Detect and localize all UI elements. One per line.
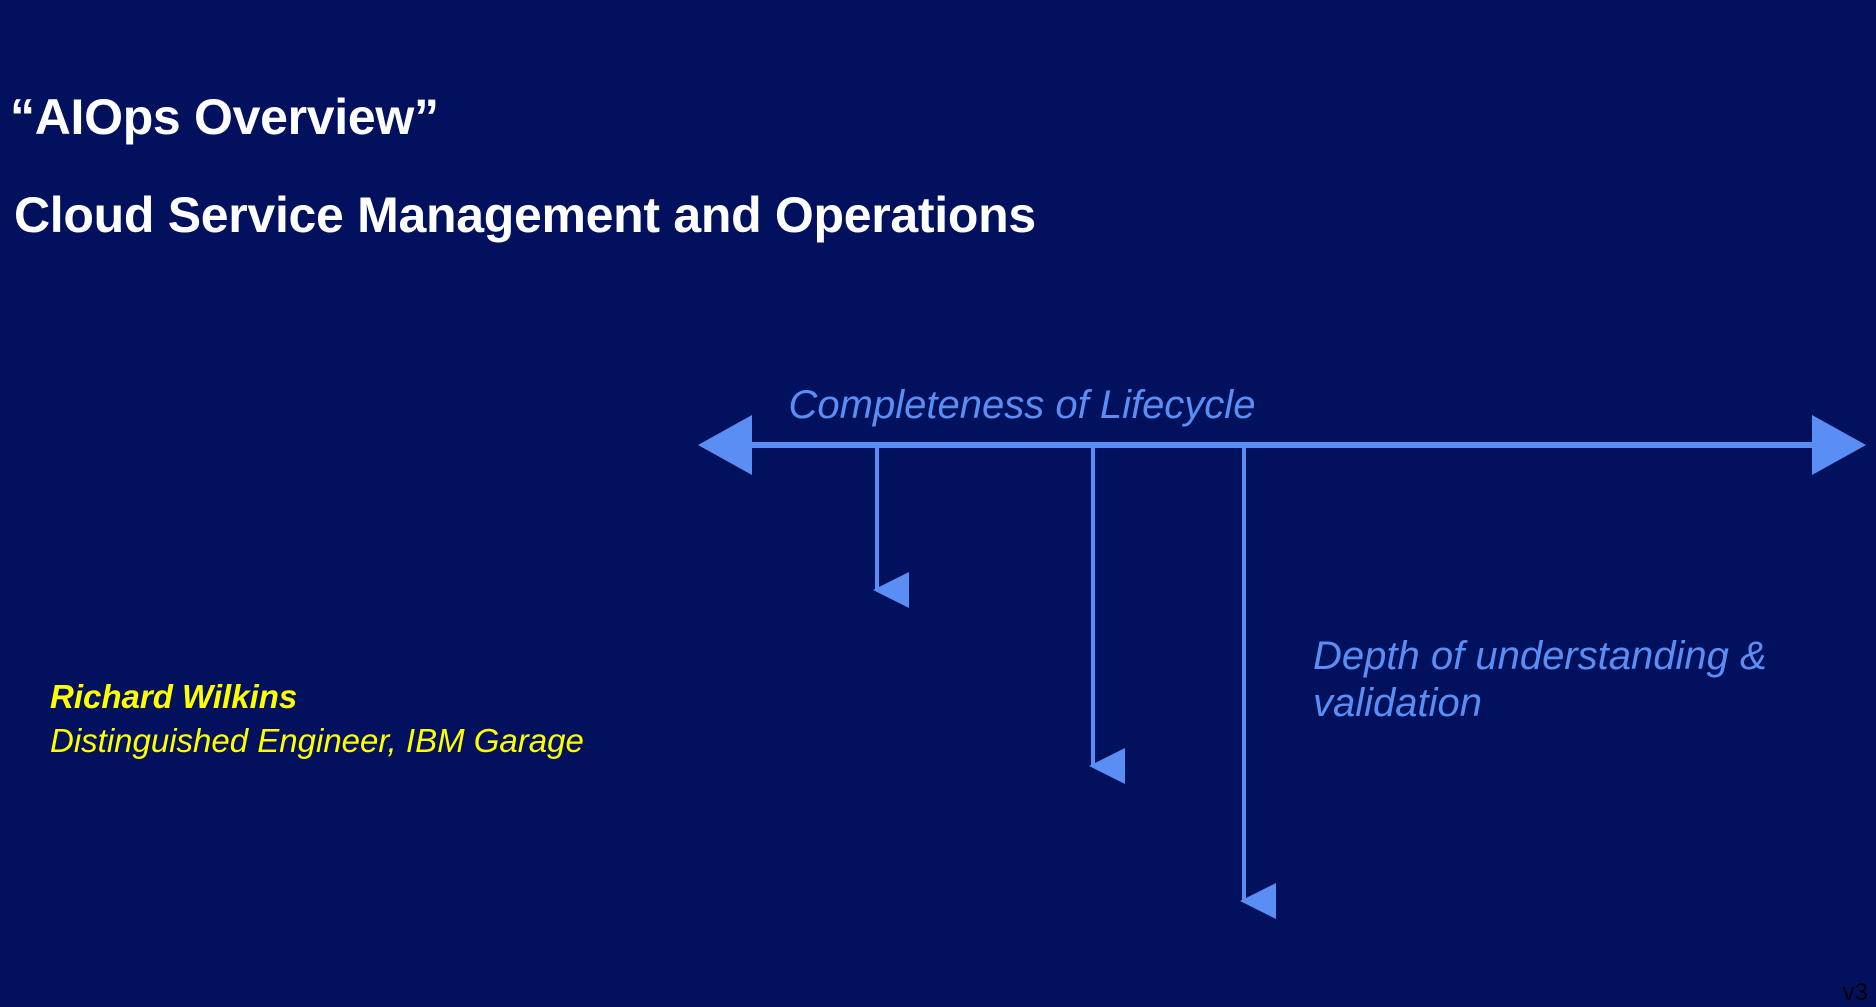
depth-label-line-1: Depth of understanding &: [1313, 634, 1767, 678]
page-title-line-2: Cloud Service Management and Operations: [14, 190, 1410, 240]
author-block: Richard Wilkins Distinguished Engineer, …: [50, 675, 584, 762]
depth-label-line-2: validation: [1313, 681, 1482, 725]
page-title-line-1: “AIOps Overview”: [10, 92, 1410, 142]
author-name: Richard Wilkins: [50, 675, 584, 719]
completeness-of-lifecycle-label: Completeness of Lifecycle: [789, 382, 1256, 429]
depth-of-understanding-label: Depth of understanding & validation: [1313, 633, 1876, 727]
version-marker: v3: [1843, 981, 1868, 1005]
author-role: Distinguished Engineer, IBM Garage: [50, 719, 584, 763]
title-block: “AIOps Overview” Cloud Service Managemen…: [10, 92, 1410, 240]
presentation-slide: “AIOps Overview” Cloud Service Managemen…: [0, 0, 1876, 1007]
